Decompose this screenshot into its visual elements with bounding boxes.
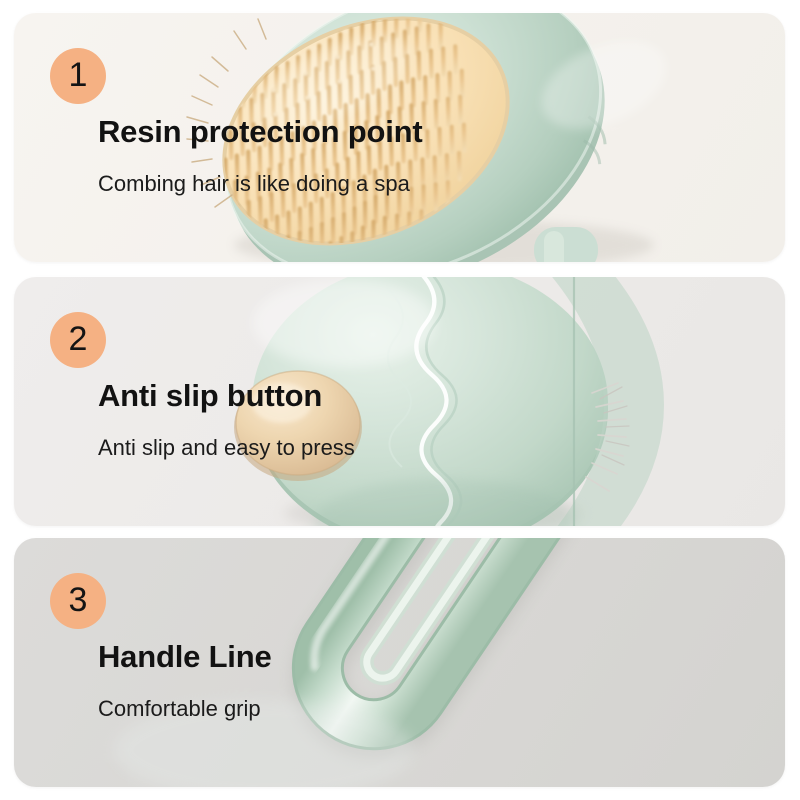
feature-title-2: Anti slip button bbox=[98, 378, 322, 414]
feature-card-2: 2 Anti slip button Anti slip and easy to… bbox=[14, 277, 785, 526]
feature-title-1: Resin protection point bbox=[98, 114, 423, 150]
infographic-page: 1 Resin protection point Combing hair is… bbox=[0, 0, 800, 800]
feature-card-3: 3 Handle Line Comfortable grip bbox=[14, 538, 785, 787]
feature-card-1: 1 Resin protection point Combing hair is… bbox=[14, 13, 785, 262]
step-number-1: 1 bbox=[69, 58, 88, 92]
feature-title-3: Handle Line bbox=[98, 639, 272, 675]
feature-subtitle-2: Anti slip and easy to press bbox=[98, 435, 355, 461]
step-badge-2: 2 bbox=[50, 312, 106, 368]
step-number-2: 2 bbox=[69, 322, 88, 356]
feature-subtitle-3: Comfortable grip bbox=[98, 696, 261, 722]
feature-subtitle-1: Combing hair is like doing a spa bbox=[98, 171, 410, 197]
step-number-3: 3 bbox=[69, 583, 88, 617]
step-badge-1: 1 bbox=[50, 48, 106, 104]
step-badge-3: 3 bbox=[50, 573, 106, 629]
